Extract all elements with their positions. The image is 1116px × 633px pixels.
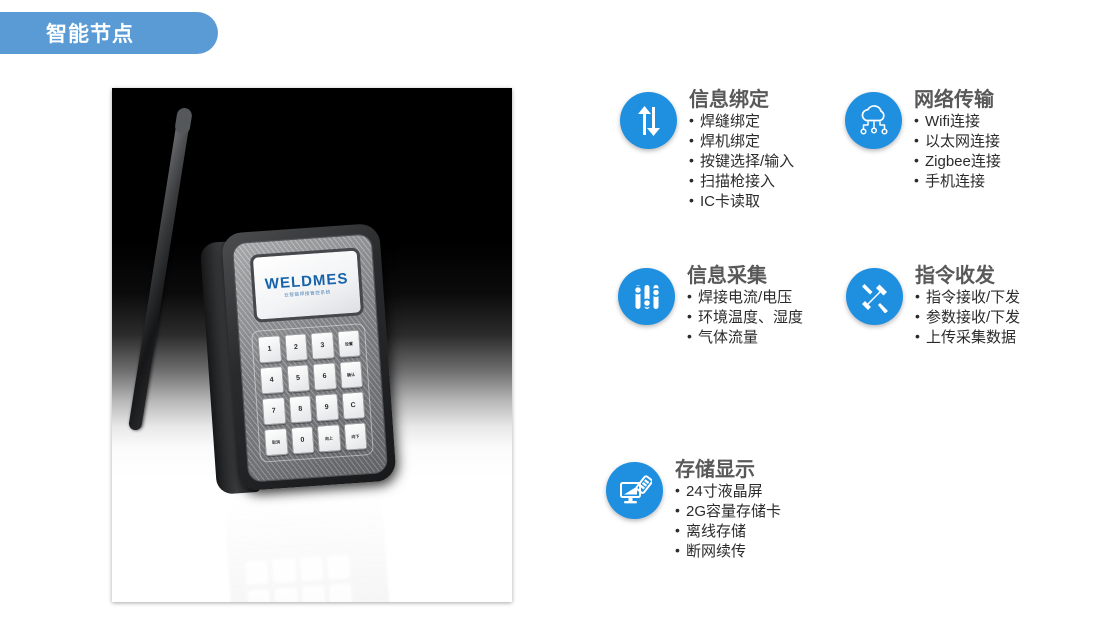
feature-title: 指令收发 xyxy=(915,266,1020,287)
smart-node-device: WELDMES 云智能焊接管控系统 123设置456确认789C取消0向上向下 xyxy=(221,223,399,494)
feature-item-list: 焊接电流/电压 环境温度、湿度 气体流量 xyxy=(687,288,803,348)
list-item: 以太网连接 xyxy=(914,132,1001,152)
device-keypad: 123设置456确认789C取消0向上向下 xyxy=(251,323,374,463)
feature-item-list: 指令接收/下发 参数接收/下发 上传采集数据 xyxy=(915,288,1020,348)
feature-storage: 存储显示 24寸液晶屏 2G容量存储卡 离线存储 断网续传 xyxy=(606,462,781,562)
list-item: Zigbee连接 xyxy=(914,152,1001,172)
reflection-keypad xyxy=(240,549,362,602)
feature-network: 网络传输 Wifi连接 以太网连接 Zigbee连接 手机连接 xyxy=(845,92,1001,192)
feature-binding: 信息绑定 焊缝绑定 焊机绑定 按键选择/输入 扫描枪接入 IC卡读取 xyxy=(620,92,794,212)
list-item: 手机连接 xyxy=(914,172,1001,192)
feature-item-list: Wifi连接 以太网连接 Zigbee连接 手机连接 xyxy=(914,112,1001,192)
product-photo: WELDMES 云智能焊接管控系统 123设置456确认789C取消0向上向下 xyxy=(112,88,512,602)
keypad-key: 6 xyxy=(312,362,336,391)
list-item: 24寸液晶屏 xyxy=(675,482,781,502)
keypad-key: 8 xyxy=(288,395,312,424)
feature-collect: 信息采集 焊接电流/电压 环境温度、湿度 气体流量 xyxy=(618,268,803,348)
device-reflection xyxy=(224,487,397,602)
keypad-key: C xyxy=(341,391,365,420)
list-item: 扫描枪接入 xyxy=(689,172,794,192)
cloud-network-icon xyxy=(845,92,902,149)
feature-item-list: 24寸液晶屏 2G容量存储卡 离线存储 断网续传 xyxy=(675,482,781,562)
list-item: 离线存储 xyxy=(675,522,781,542)
list-item: Wifi连接 xyxy=(914,112,1001,132)
feature-title: 信息采集 xyxy=(687,266,803,287)
list-item: 参数接收/下发 xyxy=(915,308,1020,328)
page-title: 智能节点 xyxy=(46,18,134,48)
keypad-key: 2 xyxy=(284,333,308,362)
hammer-wrench-icon xyxy=(846,268,903,325)
feature-item-list: 焊缝绑定 焊机绑定 按键选择/输入 扫描枪接入 IC卡读取 xyxy=(689,112,794,212)
list-item: IC卡读取 xyxy=(689,192,794,212)
screen-logo-text: WELDMES xyxy=(264,271,349,292)
feature-title: 信息绑定 xyxy=(689,90,794,111)
keypad-key: 3 xyxy=(310,331,334,360)
keypad-key: 确认 xyxy=(339,360,363,389)
section-title-banner: 智能节点 xyxy=(0,12,218,54)
up-down-arrows-icon xyxy=(620,92,677,149)
list-item: 断网续传 xyxy=(675,542,781,562)
list-item: 焊缝绑定 xyxy=(689,112,794,132)
keypad-key: 4 xyxy=(260,366,284,395)
device-screen: WELDMES 云智能焊接管控系统 xyxy=(250,247,364,323)
keypad-key: 取消 xyxy=(264,428,288,457)
keypad-key: 9 xyxy=(315,393,339,422)
monitor-memory-card-icon xyxy=(606,462,663,519)
keypad-key: 向上 xyxy=(317,424,341,453)
keypad-key: 5 xyxy=(286,364,310,393)
list-item: 上传采集数据 xyxy=(915,328,1020,348)
list-item: 焊机绑定 xyxy=(689,132,794,152)
keypad-key: 0 xyxy=(290,426,314,455)
keypad-key: 向下 xyxy=(343,422,367,451)
sliders-icon xyxy=(618,268,675,325)
list-item: 指令接收/下发 xyxy=(915,288,1020,308)
list-item: 气体流量 xyxy=(687,328,803,348)
feature-title: 存储显示 xyxy=(675,460,781,481)
feature-title: 网络传输 xyxy=(914,90,1001,111)
keypad-key: 1 xyxy=(257,335,281,364)
list-item: 环境温度、湿度 xyxy=(687,308,803,328)
keypad-key: 7 xyxy=(262,397,286,426)
device-front-face: WELDMES 云智能焊接管控系统 123设置456确认789C取消0向上向下 xyxy=(232,233,388,482)
screen-subtitle-text: 云智能焊接管控系统 xyxy=(284,290,331,298)
list-item: 按键选择/输入 xyxy=(689,152,794,172)
feature-command: 指令收发 指令接收/下发 参数接收/下发 上传采集数据 xyxy=(846,268,1020,348)
list-item: 2G容量存储卡 xyxy=(675,502,781,522)
keypad-key: 设置 xyxy=(337,330,361,359)
list-item: 焊接电流/电压 xyxy=(687,288,803,308)
